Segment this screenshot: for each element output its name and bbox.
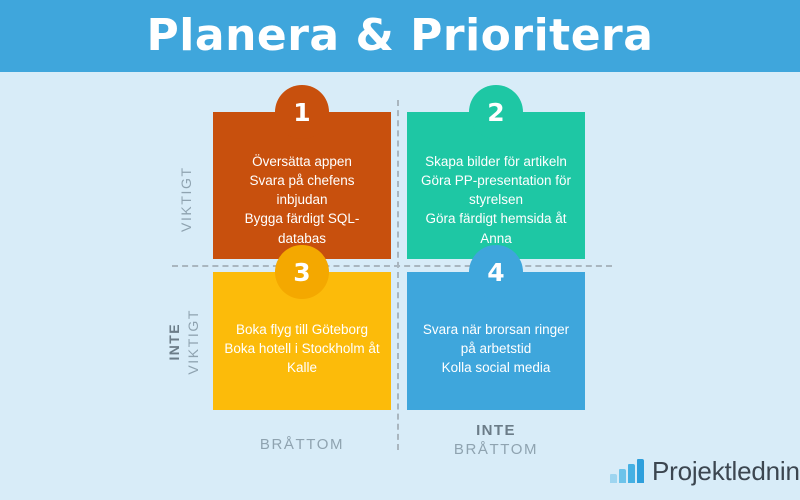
quadrant-tasks-2: Skapa bilder för artikeln Göra PP-presen… — [417, 152, 575, 248]
header-banner: Planera & Prioritera — [0, 0, 800, 72]
axis-label-inte-brattom-soft: BRÅTTOM — [407, 441, 585, 458]
quadrant-badge-3: 3 — [275, 245, 329, 299]
quadrant-tasks-1: Översätta appen Svara på chefens inbjuda… — [223, 152, 381, 248]
page-title: Planera & Prioritera — [147, 14, 654, 58]
horizontal-divider — [172, 265, 612, 267]
quadrant-badge-2: 2 — [469, 85, 523, 139]
axis-label-inte-viktigt: INTE VIKTIGT — [166, 287, 201, 397]
brand-logo: Projektledning — [610, 458, 800, 484]
vertical-divider — [397, 100, 399, 450]
eisenhower-matrix: VIKTIGT INTE VIKTIGT 1 Översätta appen S… — [0, 72, 800, 500]
quadrant-badge-4: 4 — [469, 245, 523, 299]
axis-label-brattom: BRÅTTOM — [213, 436, 391, 453]
axis-label-inte-viktigt-strong: INTE — [166, 323, 182, 361]
axis-label-inte-brattom: INTE BRÅTTOM — [407, 422, 585, 458]
axis-label-inte-brattom-strong: INTE — [407, 422, 585, 439]
quadrant-tasks-3: Boka flyg till Göteborg Boka hotell i St… — [223, 320, 381, 377]
quadrant-card-1: 1 Översätta appen Svara på chefens inbju… — [213, 112, 391, 259]
infographic-page: Planera & Prioritera VIKTIGT INTE VIKTIG… — [0, 0, 800, 500]
quadrant-badge-1: 1 — [275, 85, 329, 139]
quadrant-card-4: 4 Svara när brorsan ringer på arbetstid … — [407, 272, 585, 410]
axis-label-viktigt: VIKTIGT — [178, 144, 194, 254]
quadrant-tasks-4: Svara när brorsan ringer på arbetstid Ko… — [417, 320, 575, 377]
brand-name: Projektledning — [652, 458, 800, 484]
axis-label-inte-viktigt-soft: VIKTIGT — [185, 309, 201, 375]
quadrant-card-2: 2 Skapa bilder för artikeln Göra PP-pres… — [407, 112, 585, 259]
quadrant-card-3: 3 Boka flyg till Göteborg Boka hotell i … — [213, 272, 391, 410]
bar-chart-icon — [610, 459, 646, 483]
